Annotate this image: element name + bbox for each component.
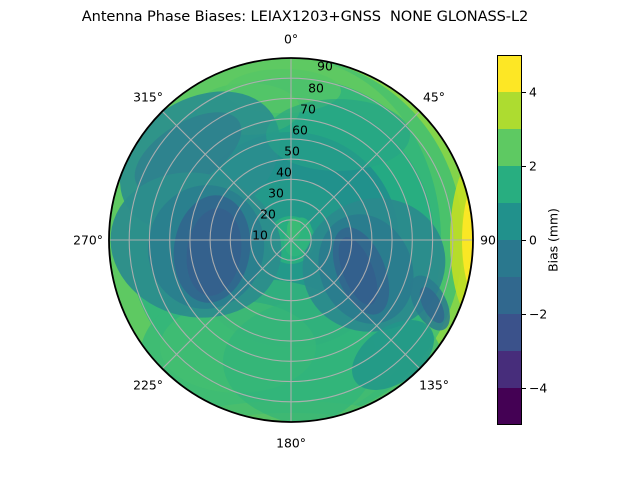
page-title: Antenna Phase Biases: LEIAX1203+GNSS NON… [0,8,610,25]
colorbar-tick-2 [522,166,526,167]
colorbar-ticklabel--4: −4 [529,381,547,396]
colorbar-tick-4 [522,92,526,93]
colorbar-tick--2 [522,314,526,315]
polar-plot: 90 80 70 60 50 40 30 20 10 [108,57,474,423]
colorbar-band--1--2 [497,277,522,314]
r-tick-label-20: 20 [260,207,276,222]
colorbar-band--4--5 [497,388,522,425]
r-tick-label-30: 30 [268,186,284,201]
colorbar-band--2--3 [497,314,522,351]
r-tick-label-60: 60 [292,123,308,138]
colorbar-ticklabel-4: 4 [529,85,537,100]
colorbar-gradient [497,55,522,425]
colorbar-tick-0 [522,240,526,241]
polar-contour-svg [108,57,474,423]
r-tick-label-50: 50 [284,144,300,159]
colorbar-ticklabel-2: 2 [529,159,537,174]
colorbar-band-3-2 [497,129,522,166]
figure-canvas: Antenna Phase Biases: LEIAX1203+GNSS NON… [0,0,640,480]
colorbar-ticklabel-0: 0 [529,233,537,248]
colorbar-band-4-3 [497,92,522,129]
colorbar-band-0--1 [497,240,522,277]
theta-tick-label-315: 315° [133,90,163,105]
theta-tick-label-90: 90 [480,233,496,248]
r-tick-label-10: 10 [252,228,268,243]
colorbar-ticklabel--2: −2 [529,307,547,322]
r-tick-label-40: 40 [276,165,292,180]
colorbar[interactable]: 4 2 0 −2 −4 [497,55,522,425]
colorbar-band-2-1 [497,166,522,203]
theta-tick-label-180: 180° [276,436,306,451]
colorbar-band-5-4 [497,55,522,92]
polar-grid [109,58,473,422]
theta-tick-label-45: 45° [423,90,445,105]
theta-tick-label-270: 270° [73,233,103,248]
theta-tick-label-225: 225° [133,378,163,393]
theta-tick-label-0: 0° [284,32,298,47]
r-tick-label-90: 90 [317,59,333,74]
theta-tick-label-135: 135° [419,378,449,393]
r-tick-label-70: 70 [300,102,316,117]
colorbar-axis-label: Bias (mm) [546,208,561,272]
colorbar-band-1-0 [497,203,522,240]
r-tick-label-80: 80 [308,81,324,96]
colorbar-band--3--4 [497,351,522,388]
colorbar-tick--4 [522,388,526,389]
